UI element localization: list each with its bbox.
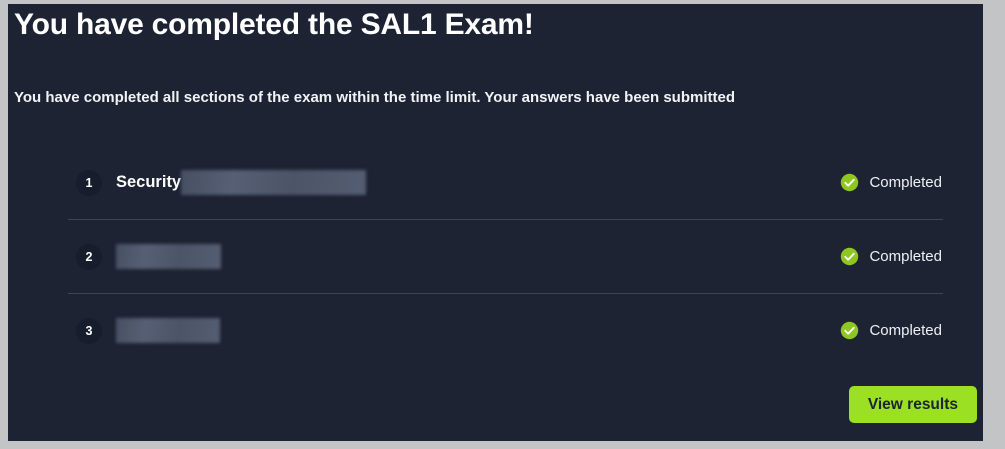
section-title (116, 318, 840, 343)
check-circle-icon (840, 247, 859, 266)
section-title: Security (116, 170, 840, 195)
section-row: 3Completed (68, 293, 943, 367)
page-footer: View results (849, 386, 977, 424)
redacted-text-block (116, 244, 221, 269)
view-results-button[interactable]: View results (849, 386, 977, 424)
redacted-text-block (116, 318, 220, 343)
page-subtitle: You have completed all sections of the e… (14, 89, 735, 106)
page-title: You have completed the SAL1 Exam! (14, 8, 534, 42)
section-number-badge: 1 (76, 170, 102, 196)
section-label: Security (116, 173, 181, 192)
check-circle-icon (840, 173, 859, 192)
section-number-badge: 3 (76, 318, 102, 344)
check-circle-icon (840, 321, 859, 340)
section-title (116, 244, 840, 269)
status-label: Completed (869, 248, 942, 265)
section-status: Completed (840, 173, 942, 192)
status-label: Completed (869, 174, 942, 191)
section-status: Completed (840, 247, 942, 266)
section-row: 1SecurityCompleted (68, 146, 943, 219)
redacted-text-block (181, 170, 366, 195)
status-label: Completed (869, 322, 942, 339)
section-status: Completed (840, 321, 942, 340)
section-number-badge: 2 (76, 244, 102, 270)
exam-sections-list: 1SecurityCompleted2Completed3Completed (68, 146, 943, 367)
section-row: 2Completed (68, 219, 943, 293)
exam-completion-page: You have completed the SAL1 Exam! You ha… (8, 4, 983, 441)
